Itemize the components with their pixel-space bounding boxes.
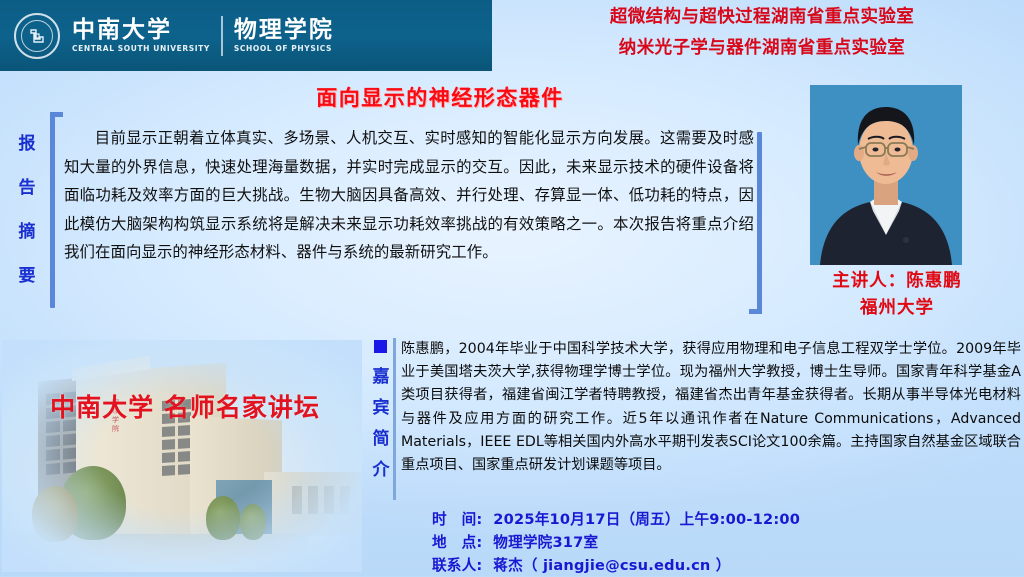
event-contact-row: 联系人: 蒋杰（ jiangjie@csu.edu.cn ） (432, 554, 972, 577)
speaker-portrait (810, 85, 962, 265)
portrait-figure (810, 85, 962, 265)
logo-school-cn: 物理学院 (234, 18, 334, 42)
lab-titles: 超微结构与超快过程湖南省重点实验室 纳米光子学与器件湖南省重点实验室 (500, 2, 1024, 64)
page-title: 面向显示的神经形态器件 (110, 82, 770, 112)
abstract-section-label: 报告摘要 (14, 122, 40, 298)
speaker-name-line1: 主讲人：陈惠鹏 (770, 268, 1024, 295)
event-time-label: 时 间: (432, 508, 488, 531)
abstract-bracket-right (757, 132, 762, 314)
logo-divider (221, 16, 223, 56)
event-time-value: 2025年10月17日（周五）上午9:00-12:00 (493, 511, 800, 528)
logo-school-en: SCHOOL OF PHYSICS (234, 44, 334, 53)
csu-seal-icon (14, 13, 60, 59)
seal-knot-icon (27, 26, 47, 46)
blue-square-marker-icon (374, 340, 387, 353)
abstract-bracket-left (50, 112, 55, 308)
logo-banner: 中南大学 CENTRAL SOUTH UNIVERSITY 物理学院 SCHOO… (0, 0, 492, 71)
logo-university-en: CENTRAL SOUTH UNIVERSITY (72, 44, 210, 53)
speaker-affiliation: 福州大学 (770, 295, 1024, 322)
speaker-name: 主讲人：陈惠鹏 福州大学 (770, 268, 1024, 322)
event-place-row: 地 点: 物理学院317室 (432, 531, 972, 554)
abstract-body: 目前显示正朝着立体真实、多场景、人机交互、实时感知的智能化显示方向发展。这需要及… (64, 124, 754, 267)
event-details: 时 间: 2025年10月17日（周五）上午9:00-12:00 地 点: 物理… (432, 508, 972, 577)
event-place-label: 地 点: (432, 531, 488, 554)
lab-title-line2: 纳米光子学与器件湖南省重点实验室 (500, 33, 1024, 64)
physics-building-photo: 物理学院 (2, 340, 362, 572)
logo-university-cn: 中南大学 (72, 18, 210, 42)
event-place-value: 物理学院317室 (493, 534, 598, 551)
bio-section-label: 嘉宾简介 (371, 362, 391, 486)
photo-overlay-text: 中南大学 名师名家讲坛 (0, 388, 370, 424)
photo-feather-mask (2, 340, 362, 572)
event-contact-value: 蒋杰（ jiangjie@csu.edu.cn ） (493, 557, 730, 574)
lab-title-line1: 超微结构与超快过程湖南省重点实验室 (500, 2, 1024, 33)
event-contact-label: 联系人: (432, 554, 488, 577)
event-time-row: 时 间: 2025年10月17日（周五）上午9:00-12:00 (432, 508, 972, 531)
bio-body: 陈惠鹏，2004年毕业于中国科学技术大学，获得应用物理和电子信息工程双学士学位。… (401, 338, 1021, 477)
logo-school: 物理学院 SCHOOL OF PHYSICS (234, 18, 334, 53)
logo-university: 中南大学 CENTRAL SOUTH UNIVERSITY (72, 18, 210, 53)
bio-bracket-left (393, 338, 396, 500)
